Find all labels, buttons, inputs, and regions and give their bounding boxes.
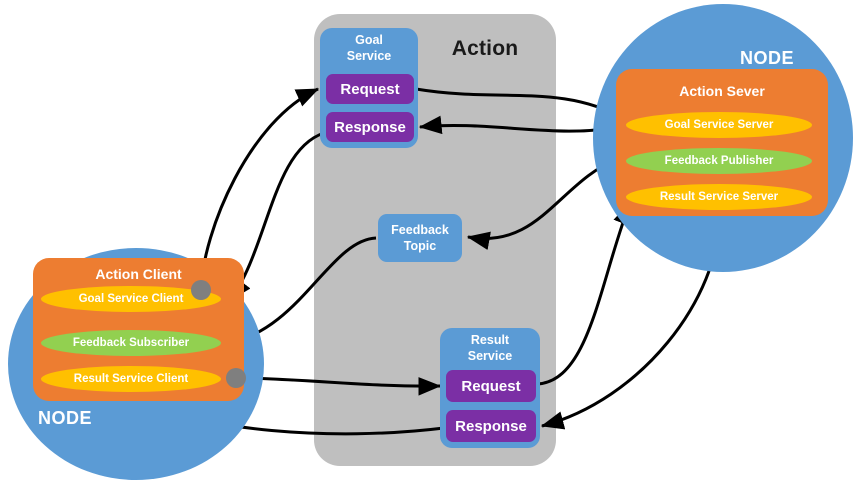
result-service-server[interactable]: Result Service Server — [626, 184, 812, 210]
arrow-goal-response-to-client — [230, 133, 324, 300]
result-service-client[interactable]: Result Service Client — [41, 366, 221, 392]
goal-service-title: Goal Service — [320, 32, 418, 68]
result-service-title-line2: Service — [440, 348, 540, 364]
goal-client-connector-dot — [191, 280, 211, 300]
goal-service-title-line1: Goal — [320, 32, 418, 48]
result-service-response[interactable]: Response — [446, 410, 536, 442]
result-client-connector-dot — [226, 368, 246, 388]
feedback-topic[interactable]: Feedback Topic — [378, 214, 462, 262]
feedback-topic-line1: Feedback — [391, 222, 449, 238]
diagram-canvas: Action — [0, 0, 854, 480]
result-service-request[interactable]: Request — [446, 370, 536, 402]
feedback-topic-line2: Topic — [404, 238, 436, 254]
action-client-title: Action Client — [33, 265, 244, 283]
result-service-title: Result Service — [440, 332, 540, 368]
goal-service-response[interactable]: Response — [326, 112, 414, 142]
client-node-label: NODE — [38, 408, 128, 432]
goal-service-title-line2: Service — [320, 48, 418, 64]
feedback-publisher[interactable]: Feedback Publisher — [626, 148, 812, 174]
action-server-title: Action Sever — [616, 82, 828, 100]
feedback-subscriber[interactable]: Feedback Subscriber — [41, 330, 221, 356]
result-service-title-line1: Result — [440, 332, 540, 348]
server-node-label: NODE — [740, 48, 830, 72]
goal-service-request[interactable]: Request — [326, 74, 414, 104]
action-label: Action — [420, 34, 550, 64]
goal-service-server[interactable]: Goal Service Server — [626, 112, 812, 138]
